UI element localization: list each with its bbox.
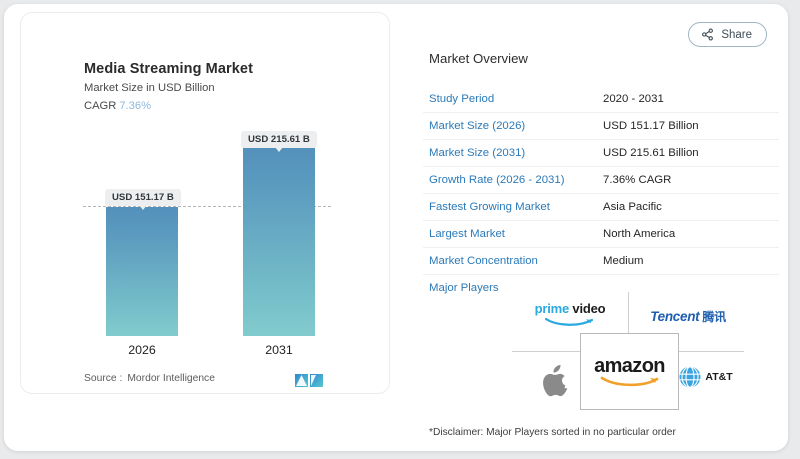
row-value: North America [603, 228, 675, 240]
tencent-chinese: 腾讯 [702, 310, 725, 324]
bar-2031[interactable] [243, 146, 315, 336]
x-axis-tick-2026: 2026 [106, 343, 178, 357]
amazon-smile-icon [600, 375, 660, 387]
row-key: Largest Market [423, 228, 603, 240]
share-icon [701, 28, 714, 41]
row-key: Market Size (2026) [423, 120, 603, 132]
row-value: USD 215.61 Billion [603, 147, 699, 159]
table-row: Market Size (2026) USD 151.17 Billion [423, 113, 779, 140]
video-word: video [572, 301, 605, 316]
x-axis-tick-2031: 2031 [243, 343, 315, 357]
share-button[interactable]: Share [688, 22, 767, 47]
player-prime-video: prime video [518, 298, 622, 334]
player-apple [526, 360, 586, 402]
disclaimer-text: *Disclaimer: Major Players sorted in no … [429, 427, 676, 438]
apple-logo-icon [543, 365, 569, 397]
table-row: Growth Rate (2026 - 2031) 7.36% CAGR [423, 167, 779, 194]
table-row: Fastest Growing Market Asia Pacific [423, 194, 779, 221]
prime-smile-icon [545, 317, 595, 327]
tencent-logo-icon: Tencent腾讯 [650, 308, 726, 325]
table-row: Market Concentration Medium [423, 248, 779, 275]
chart-source: Source :Mordor Intelligence [84, 373, 215, 384]
row-value: 2020 - 2031 [603, 93, 664, 105]
row-key: Growth Rate (2026 - 2031) [423, 174, 603, 186]
source-label: Source : [84, 373, 122, 384]
market-overview-table: Study Period 2020 - 2031 Market Size (20… [423, 86, 779, 301]
table-row: Market Size (2031) USD 215.61 Billion [423, 140, 779, 167]
bar-label-2031: USD 215.61 B [241, 131, 317, 148]
player-amazon: amazon [580, 333, 679, 410]
player-tencent: Tencent腾讯 [634, 298, 742, 334]
bar-2026[interactable] [106, 207, 178, 336]
chart-panel: Media Streaming Market Market Size in US… [20, 12, 390, 394]
row-value: USD 151.17 Billion [603, 120, 699, 132]
row-value: Asia Pacific [603, 201, 662, 213]
major-players-logo-grid: prime video Tencent腾讯 [512, 292, 744, 410]
table-row: Largest Market North America [423, 221, 779, 248]
bar-label-2026: USD 151.17 B [105, 189, 181, 206]
player-att: AT&T [670, 362, 742, 392]
bar-chart-plot: USD 151.17 B USD 215.61 B 2026 2031 [21, 13, 391, 395]
source-name: Mordor Intelligence [127, 373, 215, 384]
row-value: Medium [603, 255, 644, 267]
market-summary-card: Media Streaming Market Market Size in US… [4, 4, 788, 451]
att-label: AT&T [705, 371, 732, 383]
row-value: 7.36% CAGR [603, 174, 671, 186]
row-key: Market Size (2031) [423, 147, 603, 159]
share-button-label: Share [721, 29, 752, 41]
table-row: Study Period 2020 - 2031 [423, 86, 779, 113]
market-overview-title: Market Overview [429, 51, 528, 66]
row-key: Fastest Growing Market [423, 201, 603, 213]
row-key: Study Period [423, 93, 603, 105]
tencent-latin: Tencent [650, 309, 699, 324]
att-logo-icon [679, 366, 701, 388]
amazon-wordmark: amazon [594, 356, 665, 376]
prime-video-logo-icon: prime video [535, 302, 606, 331]
prime-word: prime [535, 301, 569, 316]
mordor-intelligence-logo-icon [295, 373, 325, 388]
row-key: Market Concentration [423, 255, 603, 267]
